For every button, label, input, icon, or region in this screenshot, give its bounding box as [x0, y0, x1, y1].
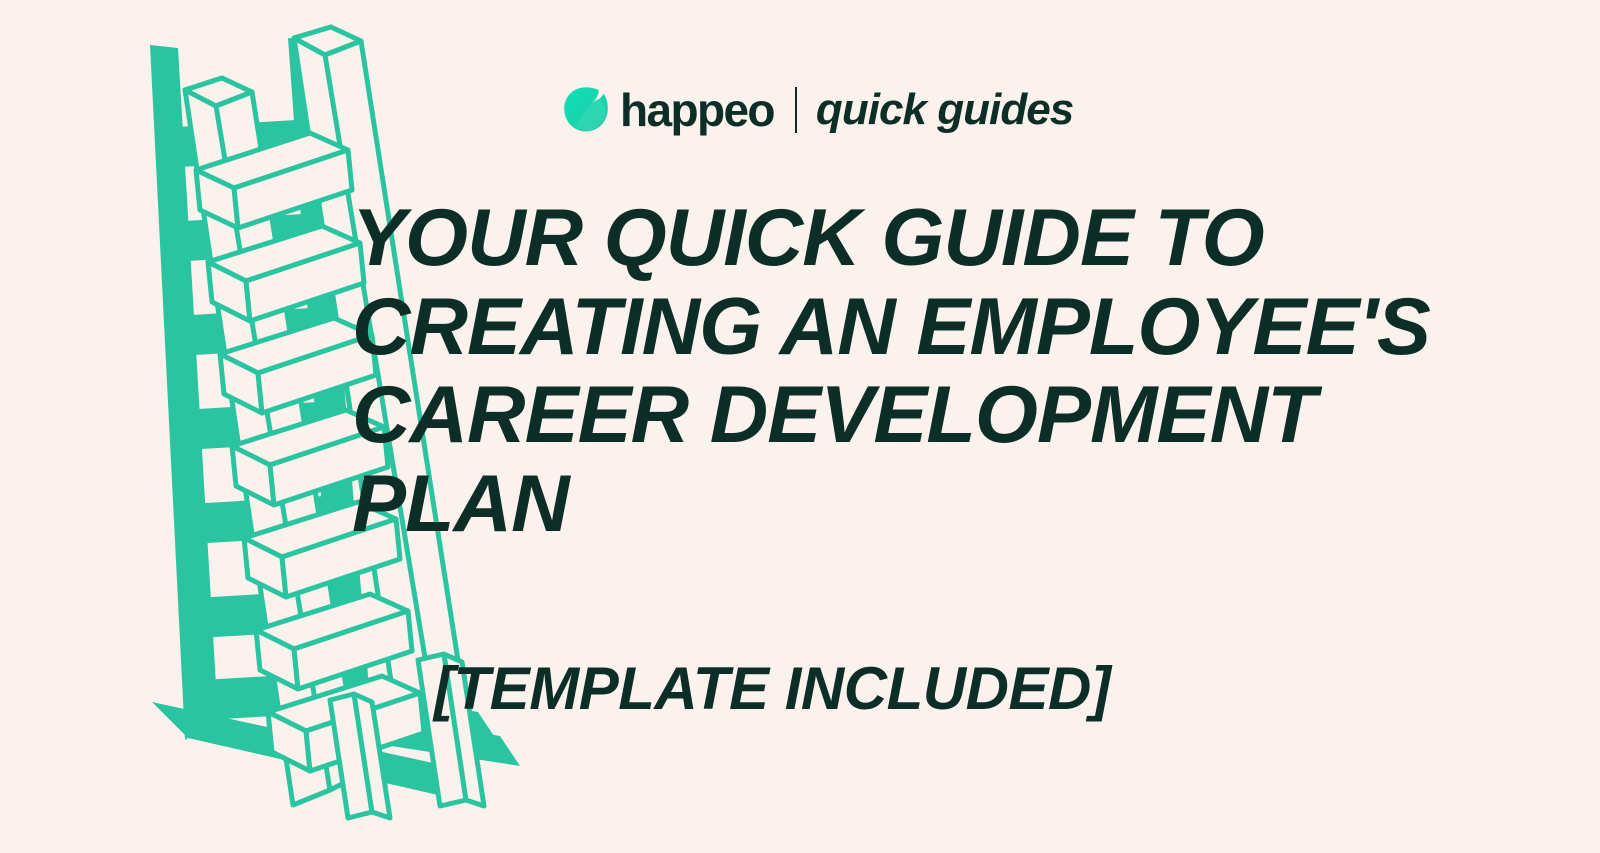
ladder-rail-left-front: [185, 78, 330, 805]
cover-canvas: happeo quick guides YOUR QUICK GUIDE TO …: [0, 0, 1600, 853]
ladder-rear-leg-inner: [330, 694, 372, 818]
ladder-rail-right-cap: [294, 27, 361, 55]
template-included-label: [TEMPLATE INCLUDED]: [434, 659, 1110, 719]
brand-divider: [795, 87, 797, 133]
headline-line-1: YOUR QUICK GUIDE TO: [352, 194, 1532, 283]
template-included-badge: [TEMPLATE INCLUDED]: [434, 659, 1110, 719]
ladder-rung: [268, 676, 424, 771]
page-title: YOUR QUICK GUIDE TO CREATING AN EMPLOYEE…: [352, 194, 1532, 549]
ladder-rung: [208, 226, 364, 321]
happeo-wordmark: happeo: [620, 87, 774, 133]
ladder-rail-left-cap: [185, 78, 252, 106]
brand-lockup: happeo quick guides: [564, 78, 1073, 142]
happeo-leaf-drop-icon: [564, 87, 608, 133]
quick-guides-subbrand: quick guides: [816, 88, 1073, 132]
ladder-rear-leg-inner-side: [354, 694, 390, 818]
ladder-rung: [196, 133, 352, 228]
headline-line-4: PLAN: [352, 460, 1532, 549]
ladder-rung: [256, 594, 412, 689]
ladder-rail-left-side: [216, 92, 360, 790]
headline-line-2: CREATING AN EMPLOYEE'S: [352, 283, 1532, 372]
headline-line-3: CAREER DEVELOPMENT: [352, 371, 1532, 460]
